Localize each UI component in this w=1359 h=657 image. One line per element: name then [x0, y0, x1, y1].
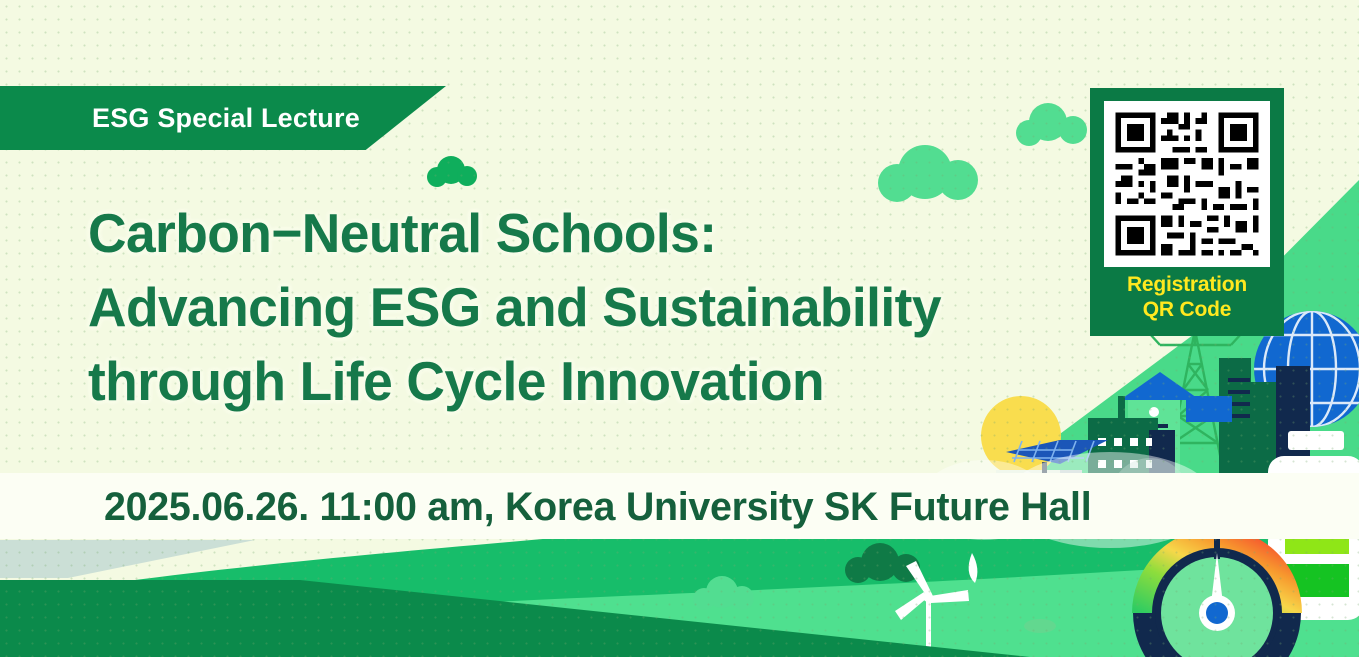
qr-code-image[interactable] [1104, 101, 1270, 267]
headline-line-3: through Life Cycle Innovation [88, 344, 1000, 418]
esg-ribbon-label: ESG Special Lecture [92, 103, 360, 134]
event-details-text: 2025.06.26. 11:00 am, Korea University S… [104, 484, 1091, 530]
qr-caption-line-2: QR Code [1127, 297, 1247, 322]
cloud-icon [427, 156, 477, 187]
registration-qr-card[interactable]: Registration QR Code [1090, 88, 1284, 336]
cloud-icon [1016, 103, 1087, 146]
cloud-icon [878, 145, 978, 202]
headline-line-2: Advancing ESG and Sustainability [88, 270, 1000, 344]
headline-line-1: Carbon−Neutral Schools: [88, 196, 1000, 270]
qr-caption-line-1: Registration [1127, 272, 1247, 297]
page-title: Carbon−Neutral Schools: Advancing ESG an… [88, 196, 1028, 418]
bush [1024, 619, 1056, 633]
qr-caption: Registration QR Code [1127, 272, 1247, 322]
esg-lecture-banner: ESG Special Lecture Carbon−Neutral Schoo… [0, 0, 1359, 657]
